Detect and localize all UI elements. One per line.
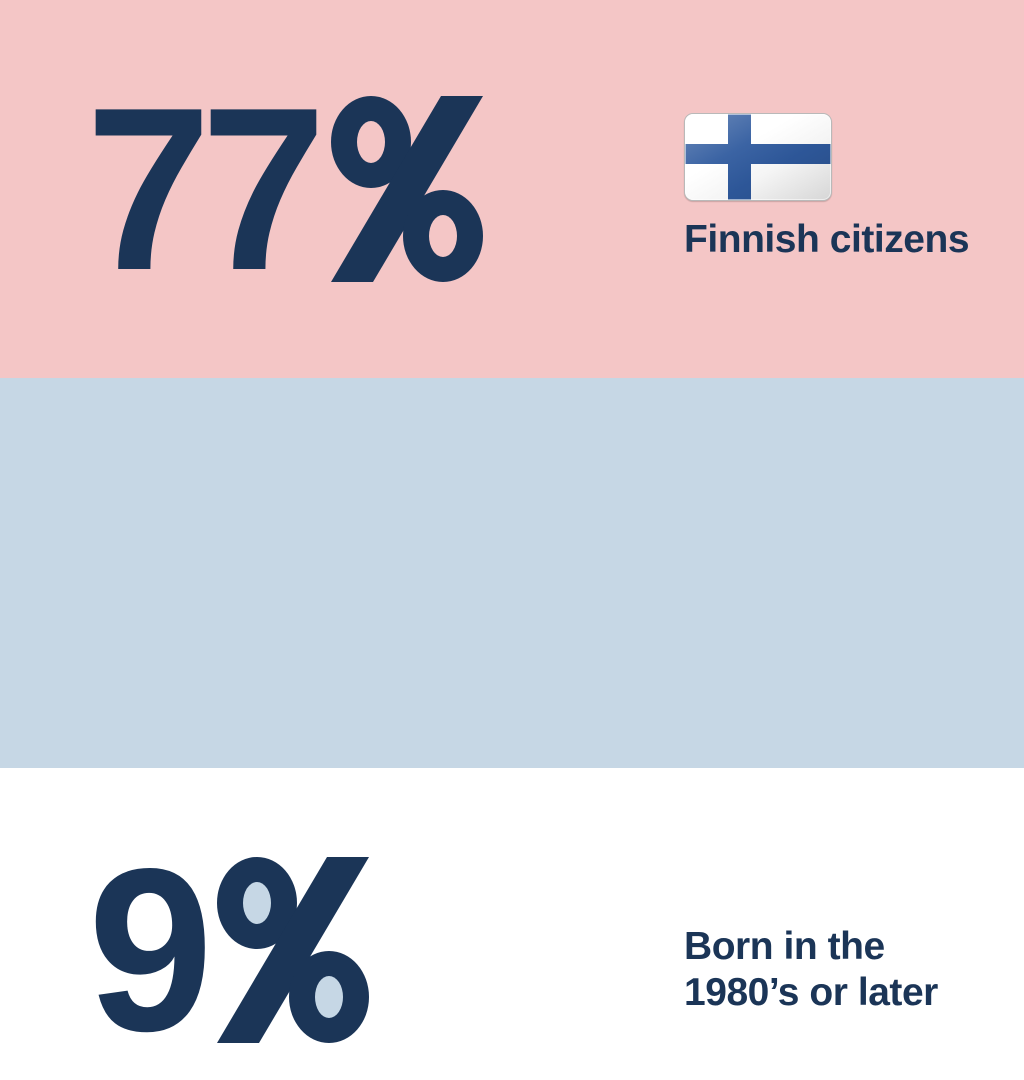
- caption-block-born-1980s: Born in the 1980’s or later: [684, 924, 1004, 1016]
- caption-block-finnish-citizens: Finnish citizens: [684, 113, 1004, 263]
- stat-figure-9-percent: 9: [88, 857, 369, 1044]
- percent-sign-icon: [217, 857, 369, 1043]
- caption-label-born-1980s: Born in the 1980’s or later: [684, 924, 1004, 1016]
- percent-upper-counter: [357, 121, 385, 163]
- statistics-infographic: 77: [0, 0, 1024, 768]
- flag-cross-horizontal: [685, 144, 831, 164]
- percent-lower-counter: [429, 215, 457, 257]
- finland-flag-icon: [684, 113, 832, 201]
- stat-panel-born-1980s: 9 Born in the 1980’s or later: [0, 378, 1024, 768]
- percent-upper-counter: [243, 882, 271, 924]
- percent-lower-counter: [315, 976, 343, 1018]
- percent-sign-icon: [331, 96, 483, 282]
- stat-figure-77-percent: 77: [86, 96, 483, 283]
- flag-cross-vertical: [728, 114, 751, 200]
- stat-number-9: 9: [88, 858, 203, 1044]
- caption-label-finnish-citizens: Finnish citizens: [684, 217, 1004, 263]
- stat-number-77: 77: [86, 97, 316, 283]
- stat-panel-finnish-citizens: 77: [0, 0, 1024, 378]
- flag-face: [685, 114, 831, 200]
